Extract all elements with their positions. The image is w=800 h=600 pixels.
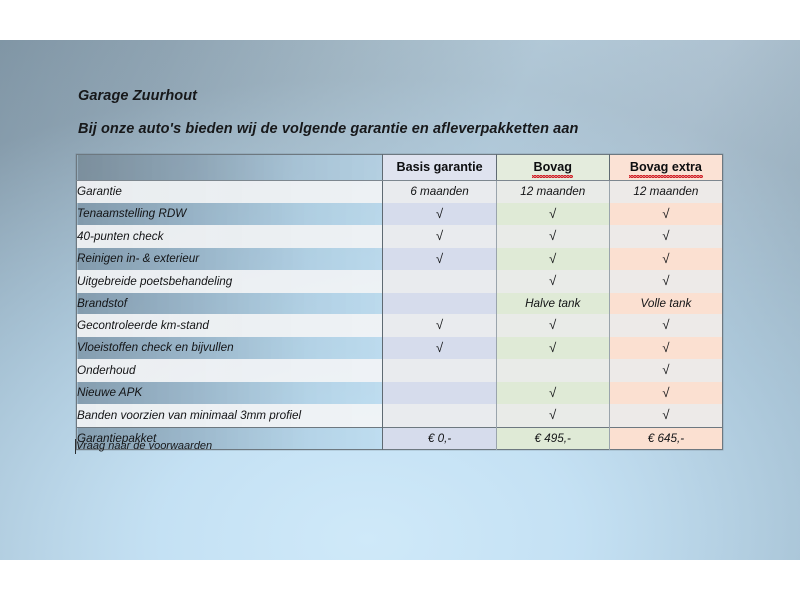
value-cell-basis-garantie: 6 maanden [383,181,496,203]
check-icon: √ [436,317,443,332]
value-cell-basis-garantie: √ [383,248,496,271]
table-row: Vloeistoffen check en bijvullen√√√ [77,337,723,360]
value-cell-bovag-extra: √ [609,225,722,248]
check-icon: √ [662,407,669,422]
slide-canvas: Garage Zuurhout Bij onze auto's bieden w… [0,40,800,560]
value-cell-basis-garantie: √ [383,314,496,337]
header-cell-bovag-extra: Bovag extra [609,155,722,181]
feature-cell: Vloeistoffen check en bijvullen [77,337,383,360]
table-body: Garantie6 maanden12 maanden12 maandenTen… [77,181,723,450]
feature-cell: Gecontroleerde km-stand [77,314,383,337]
header-label-basis-garantie: Basis garantie [397,160,483,174]
page-subtitle: Bij onze auto's bieden wij de volgende g… [78,121,578,137]
feature-cell: Nieuwe APK [77,382,383,405]
feature-cell: Onderhoud [77,359,383,382]
value-cell-bovag-extra: √ [609,270,722,293]
table-row: Gecontroleerde km-stand√√√ [77,314,723,337]
feature-cell: Tenaamstelling RDW [77,203,383,226]
value-cell-bovag-extra: √ [609,382,722,405]
value-cell-bovag [496,359,609,382]
check-icon: √ [662,385,669,400]
footer-note: Vraag naar de voorwaarden [76,440,212,452]
value-cell-bovag: 12 maanden [496,181,609,203]
feature-cell: Uitgebreide poetsbehandeling [77,270,383,293]
feature-cell: Reinigen in- & exterieur [77,248,383,271]
value-cell-bovag: √ [496,404,609,427]
value-cell-basis-garantie [383,293,496,315]
check-icon: √ [549,251,556,266]
check-icon: √ [662,206,669,221]
header-label-bovag: Bovag [533,160,572,174]
check-icon: √ [662,362,669,377]
feature-cell: Banden voorzien van minimaal 3mm profiel [77,404,383,427]
check-icon: √ [436,251,443,266]
value-cell-bovag: √ [496,248,609,271]
value-cell-bovag: √ [496,314,609,337]
header-label-bovag-extra: Bovag extra [630,160,702,174]
value-cell-bovag: √ [496,270,609,293]
value-cell-basis-garantie [383,359,496,382]
check-icon: √ [436,206,443,221]
table-row: Banden voorzien van minimaal 3mm profiel… [77,404,723,427]
spellcheck-underline-bovag: Bovag [533,155,572,180]
check-icon: √ [662,228,669,243]
table-header-row: Basis garantie Bovag Bovag extra [77,155,723,181]
check-icon: √ [549,407,556,422]
header-cell-basis-garantie: Basis garantie [383,155,496,181]
check-icon: √ [436,340,443,355]
check-icon: √ [549,206,556,221]
value-cell-bovag-extra: √ [609,359,722,382]
check-icon: √ [549,340,556,355]
check-icon: √ [662,317,669,332]
value-cell-bovag-extra: √ [609,404,722,427]
table-row: Onderhoud√ [77,359,723,382]
check-icon: √ [549,228,556,243]
value-cell-basis-garantie: √ [383,203,496,226]
comparison-table: Basis garantie Bovag Bovag extra Garanti… [76,154,723,450]
value-cell-bovag: Halve tank [496,293,609,315]
value-cell-basis-garantie: € 0,- [383,427,496,450]
header-cell-bovag: Bovag [496,155,609,181]
table-row: 40-punten check√√√ [77,225,723,248]
value-cell-bovag-extra: √ [609,203,722,226]
check-icon: √ [662,340,669,355]
value-cell-bovag: √ [496,382,609,405]
check-icon: √ [549,273,556,288]
value-cell-bovag: √ [496,225,609,248]
table-row: Tenaamstelling RDW√√√ [77,203,723,226]
table-row: Nieuwe APK√√ [77,382,723,405]
page-title: Garage Zuurhout [78,88,197,104]
table-row: BrandstofHalve tankVolle tank [77,293,723,315]
check-icon: √ [662,251,669,266]
value-cell-bovag: √ [496,337,609,360]
feature-cell: 40-punten check [77,225,383,248]
feature-cell: Garantie [77,181,383,203]
value-cell-bovag: € 495,- [496,427,609,450]
check-icon: √ [662,273,669,288]
value-cell-bovag-extra: √ [609,337,722,360]
value-cell-bovag-extra: √ [609,314,722,337]
feature-cell: Brandstof [77,293,383,315]
value-cell-basis-garantie: √ [383,225,496,248]
value-cell-bovag-extra: Volle tank [609,293,722,315]
value-cell-basis-garantie [383,270,496,293]
value-cell-bovag: √ [496,203,609,226]
check-icon: √ [549,385,556,400]
value-cell-bovag-extra: 12 maanden [609,181,722,203]
header-cell-feature [77,155,383,181]
table-row: Reinigen in- & exterieur√√√ [77,248,723,271]
check-icon: √ [436,228,443,243]
value-cell-basis-garantie: √ [383,337,496,360]
table-row: Garantie6 maanden12 maanden12 maanden [77,181,723,203]
value-cell-bovag-extra: € 645,- [609,427,722,450]
value-cell-basis-garantie [383,382,496,405]
value-cell-basis-garantie [383,404,496,427]
spellcheck-underline-bovag-extra: Bovag extra [630,155,702,180]
check-icon: √ [549,317,556,332]
table-row: Uitgebreide poetsbehandeling√√ [77,270,723,293]
value-cell-bovag-extra: √ [609,248,722,271]
